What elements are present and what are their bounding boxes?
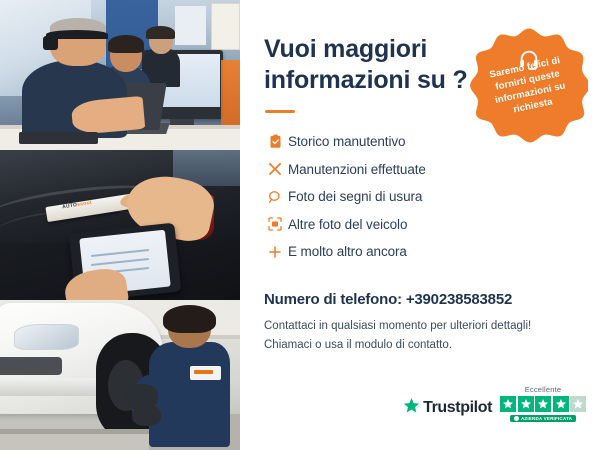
call-center-agents-photo [0,0,240,150]
car-lift-platform [0,429,149,450]
trustpilot-logo: Trustpilot [403,397,492,422]
clipboard-check-icon [262,134,288,149]
contact-info-banner: AUTOscout [0,0,600,450]
trustpilot-widget[interactable]: Trustpilot Eccellente [403,385,586,422]
feature-item-manutenzioni-effettuate[interactable]: Manutenzioni effettuate [262,156,512,184]
tools-cross-icon [262,161,288,177]
trustpilot-rating: Eccellente [500,385,586,422]
star-filled-icon [518,396,534,412]
trustpilot-wordmark: Trustpilot [423,399,492,417]
verified-company-badge: AZIENDA VERIFICATA [510,415,576,422]
callout-badge: Saremo felici di fornirti queste informa… [470,26,588,144]
star-filled-icon [500,396,516,412]
mechanic-hair [163,305,216,334]
feature-item-label: Altre foto del veicolo [288,217,407,232]
mechanic-glove-lower [132,405,161,426]
car-grille [0,357,62,375]
verified-label: AZIENDA VERIFICATA [521,416,572,421]
verified-check-icon [514,416,519,421]
feature-item-label: Manutenzioni effettuate [288,162,426,177]
magnifier-icon [262,189,288,205]
star-partial-icon [570,396,586,412]
wall-poster-secondary [175,6,206,45]
title-underline-rule [265,110,295,113]
feature-item-molto-altro[interactable]: E molto altro ancora [262,238,512,266]
wall-poster [211,3,239,50]
agent-three-hair [146,26,175,40]
rating-label: Eccellente [525,385,562,394]
feature-item-label: Storico manutentivo [288,134,405,149]
feature-item-label: E molto altro ancora [288,244,407,259]
feature-item-altre-foto-veicolo[interactable]: Altre foto del veicolo [262,211,512,239]
content-panel: Vuoi maggiori informazioni su ? Saremo f… [240,0,600,450]
agent-two-hair [108,35,144,53]
car-bumper [0,378,101,396]
car-headlight [14,324,78,350]
keyboard [19,132,98,144]
feature-list: Storico manutentivo Manutenzioni effettu… [262,128,512,266]
star-rating [500,396,586,412]
star-filled-icon [535,396,551,412]
star-filled-icon [553,396,569,412]
plus-icon [262,244,288,260]
mechanic-wheel-check-photo [0,300,240,450]
photo-column: AUTOscout [0,0,240,450]
feature-item-label: Foto dei segni di usura [288,189,422,204]
trustpilot-star-icon [403,397,420,419]
feature-item-foto-segni-usura[interactable]: Foto dei segni di usura [262,183,512,211]
agent-one-headset-cup [43,36,57,50]
page-title: Vuoi maggiori informazioni su ? [264,34,479,95]
feature-item-storico-manutentivo[interactable]: Storico manutentivo [262,128,512,156]
contact-description-line-1: Contattaci in qualsiasi momento per ulte… [264,317,564,336]
phone-number-line[interactable]: Numero di telefono: +390238583852 [264,291,512,308]
contact-description-line-2: Chiamaci o usa il modulo di contatto. [264,336,564,355]
scan-frame-icon [262,216,288,232]
vehicle-inspection-tablet-photo: AUTOscout [0,150,240,300]
uniform-logo-patch [190,366,221,380]
contact-description: Contattaci in qualsiasi momento per ulte… [264,317,564,354]
